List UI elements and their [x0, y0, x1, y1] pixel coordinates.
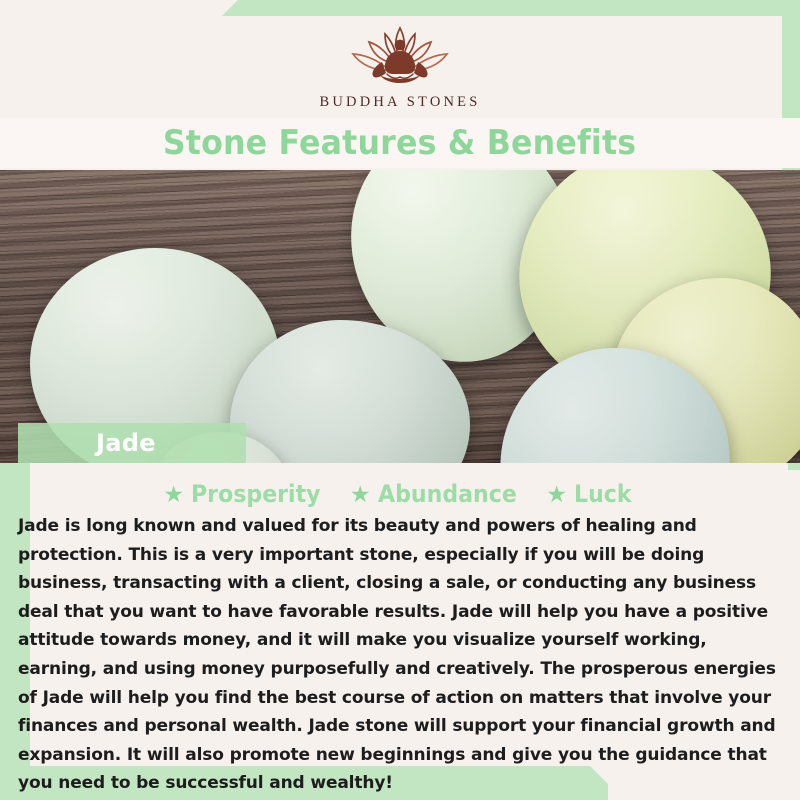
description-paragraph: Jade is long known and valued for its be…: [18, 512, 778, 798]
benefit-item-luck: ★ Luck: [546, 480, 636, 508]
page-title: Stone Features & Benefits: [163, 123, 636, 163]
brand-logo: BUDDHA STONES: [320, 22, 481, 111]
stone-photo: [0, 170, 800, 463]
brand-header: BUDDHA STONES: [0, 16, 800, 116]
lotus-meditation-figure-icon: [325, 22, 475, 92]
benefit-item-abundance: ★ Abundance: [350, 480, 529, 508]
star-icon: ★: [350, 483, 371, 506]
title-band: Stone Features & Benefits: [0, 118, 800, 168]
star-icon: ★: [163, 483, 184, 506]
benefit-label: Abundance: [378, 480, 517, 508]
stone-name-band: Jade: [18, 423, 246, 463]
star-icon: ★: [546, 483, 567, 506]
stone-name-label: Jade: [96, 429, 156, 457]
benefit-item-prosperity: ★ Prosperity: [163, 480, 331, 508]
brand-name: BUDDHA STONES: [320, 94, 481, 111]
benefits-row: ★ Prosperity ★ Abundance ★ Luck: [0, 478, 800, 510]
benefit-label: Prosperity: [191, 480, 321, 508]
benefit-label: Luck: [574, 480, 632, 508]
decorative-band-top-right: [222, 0, 800, 16]
infographic-card: BUDDHA STONES Stone Features & Benefits …: [0, 0, 800, 800]
